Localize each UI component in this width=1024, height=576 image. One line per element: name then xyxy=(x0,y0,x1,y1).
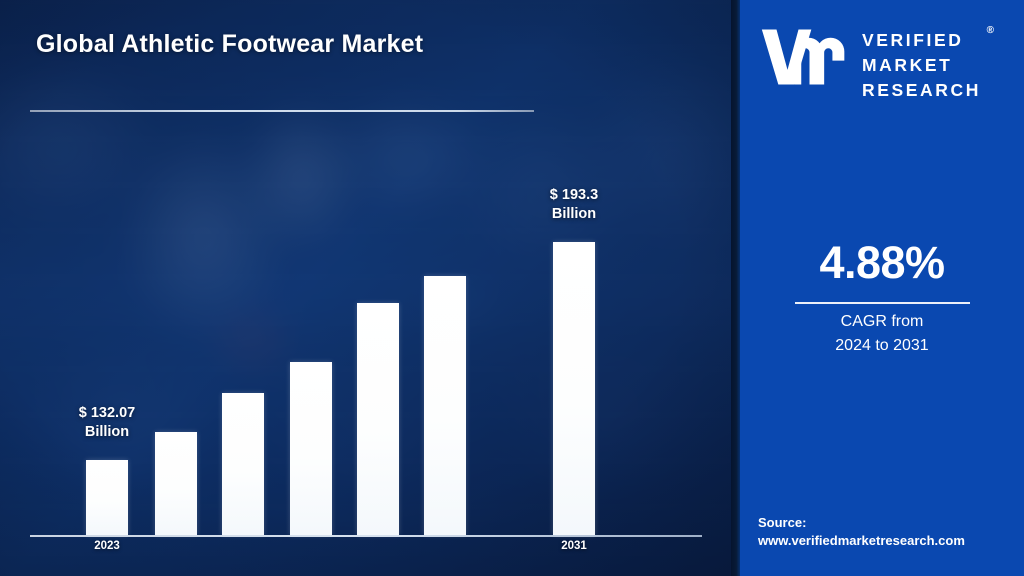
cagr-value: 4.88% xyxy=(740,237,1024,289)
cagr-divider xyxy=(795,302,970,304)
bar-2027 xyxy=(357,303,399,535)
vm-monogram-logo-icon xyxy=(758,24,850,90)
chart-panel: Global Athletic Footwear Market 20232031… xyxy=(0,0,731,576)
registered-trademark-icon: ® xyxy=(987,24,994,38)
infographic-root: Global Athletic Footwear Market 20232031… xyxy=(0,0,1024,576)
bar-value-unit: Billion xyxy=(504,205,644,224)
bar-2023 xyxy=(86,460,128,535)
bar-value-label-2031: $ 193.3Billion xyxy=(504,186,644,223)
brand-name: VERIFIED MARKET RESEARCH ® xyxy=(862,24,981,103)
x-axis-line xyxy=(30,535,702,537)
brand-name-line-2: MARKET xyxy=(862,55,952,75)
bar-2031 xyxy=(553,242,595,535)
bar-2026 xyxy=(290,362,332,535)
bar-value-unit: Billion xyxy=(37,423,177,442)
panel-divider xyxy=(731,0,740,576)
x-tick-2031: 2031 xyxy=(534,540,614,552)
brand-logo[interactable]: VERIFIED MARKET RESEARCH ® xyxy=(758,24,1010,103)
brand-panel: VERIFIED MARKET RESEARCH ® 4.88% xyxy=(740,0,1024,576)
x-tick-2023: 2023 xyxy=(67,540,147,552)
bar-value-label-2023: $ 132.07Billion xyxy=(37,404,177,441)
brand-name-line-3: RESEARCH xyxy=(862,80,981,100)
bar-value-amount: $ 132.07 xyxy=(37,404,177,423)
bar-chart: 20232031$ 132.07Billion$ 193.3Billion xyxy=(0,0,731,576)
bar-2025 xyxy=(222,393,264,535)
bar-2028 xyxy=(424,276,466,535)
bar-value-amount: $ 193.3 xyxy=(504,186,644,205)
brand-name-line-1: VERIFIED xyxy=(862,30,964,50)
bar-2024 xyxy=(155,432,197,535)
